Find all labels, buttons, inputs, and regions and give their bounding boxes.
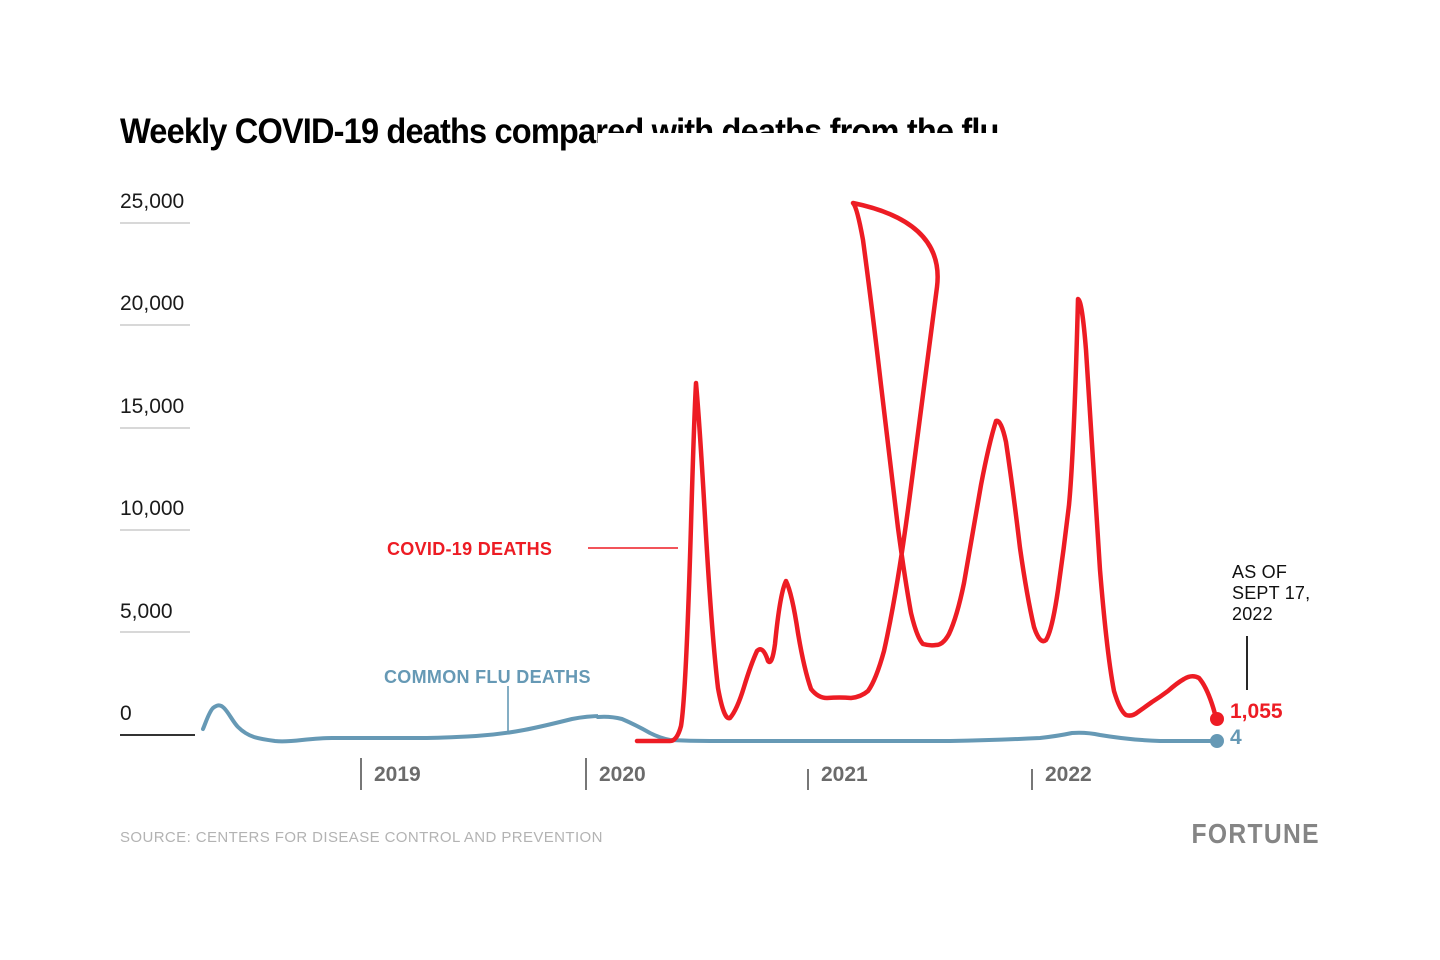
as-of-line-1: AS OF: [1232, 562, 1310, 583]
fortune-logo: FORTUNE: [1192, 818, 1320, 850]
flu-end-dot: [1210, 734, 1224, 748]
y-tick-15000: 15,000: [120, 395, 184, 419]
as-of-line-2: SEPT 17,: [1232, 583, 1310, 604]
x-tick-2021: 2021: [821, 763, 868, 787]
covid-end-value: 1,055: [1230, 700, 1283, 724]
as-of-line-3: 2022: [1232, 604, 1310, 625]
chart-page: Weekly COVID-19 deaths compared with dea…: [0, 0, 1440, 960]
y-tick-10000: 10,000: [120, 497, 184, 521]
as-of-annotation: AS OF SEPT 17, 2022: [1232, 562, 1310, 625]
chart-canvas: [0, 0, 1440, 960]
y-tick-0: 0: [120, 702, 132, 726]
flu-end-value: 4: [1230, 726, 1242, 750]
covid-end-dot: [1210, 712, 1224, 726]
legend-label-covid: COVID-19 DEATHS: [387, 539, 552, 560]
source-note: SOURCE: CENTERS FOR DISEASE CONTROL AND …: [120, 829, 603, 846]
y-tick-25000: 25,000: [120, 190, 184, 214]
y-tick-20000: 20,000: [120, 292, 184, 316]
x-tick-2020: 2020: [599, 763, 646, 787]
legend-label-flu: COMMON FLU DEATHS: [384, 667, 591, 688]
x-tick-2019: 2019: [374, 763, 421, 787]
y-tick-5000: 5,000: [120, 600, 173, 624]
x-tick-2022: 2022: [1045, 763, 1092, 787]
